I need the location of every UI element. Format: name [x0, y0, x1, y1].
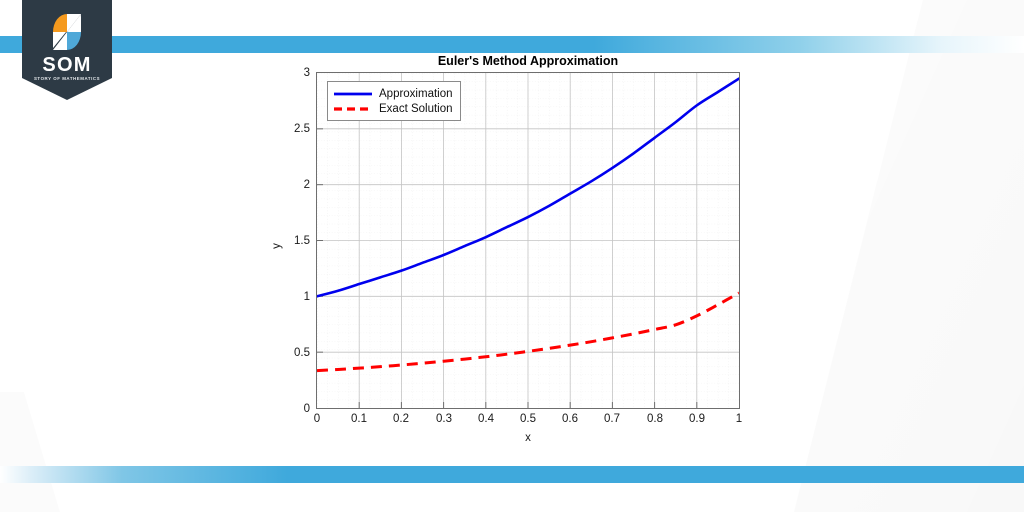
ytick-label-0-5: 0.5 — [270, 347, 310, 359]
background-watermark — [794, 0, 1024, 512]
legend-label-exact-solution: Exact Solution — [379, 103, 453, 115]
legend-swatch-solid-blue — [333, 88, 373, 100]
legend-swatch-dashed-red — [333, 103, 373, 115]
plot-canvas — [317, 73, 739, 408]
chart-title: Euler's Method Approximation — [316, 54, 740, 68]
xtick-label-0-8: 0.8 — [635, 413, 675, 425]
legend-item-approximation: Approximation — [333, 86, 453, 101]
chart-legend[interactable]: Approximation Exact Solution — [327, 81, 461, 121]
xtick-label-1: 1 — [719, 413, 759, 425]
som-logo-tagline: STORY OF MATHEMATICS — [22, 77, 112, 81]
bottom-banner-stripe — [0, 466, 1024, 483]
x-axis-title: x — [316, 432, 740, 444]
xtick-label-0-6: 0.6 — [550, 413, 590, 425]
som-monogram-icon — [47, 12, 87, 52]
ytick-label-2-5: 2.5 — [270, 123, 310, 135]
xtick-label-0-2: 0.2 — [381, 413, 421, 425]
xtick-label-0-9: 0.9 — [677, 413, 717, 425]
background-watermark-corner — [0, 392, 60, 512]
ytick-label-2: 2 — [270, 179, 310, 191]
y-axis-title: y — [271, 243, 283, 249]
plot-area: Approximation Exact Solution — [316, 72, 740, 409]
xtick-label-0-5: 0.5 — [508, 413, 548, 425]
xtick-label-0-1: 0.1 — [339, 413, 379, 425]
som-logo-badge[interactable]: SOM STORY OF MATHEMATICS — [22, 0, 112, 100]
ytick-label-3: 3 — [270, 67, 310, 79]
xtick-label-0-3: 0.3 — [424, 413, 464, 425]
xtick-label-0-7: 0.7 — [592, 413, 632, 425]
xtick-label-0: 0 — [297, 413, 337, 425]
legend-item-exact-solution: Exact Solution — [333, 101, 453, 116]
chart-figure: Euler's Method Approximation — [266, 50, 766, 450]
som-logo-wordmark: SOM — [22, 55, 112, 75]
legend-label-approximation: Approximation — [379, 88, 453, 100]
xtick-label-0-4: 0.4 — [466, 413, 506, 425]
ytick-label-1: 1 — [270, 291, 310, 303]
page-root: SOM STORY OF MATHEMATICS Euler's Method … — [0, 0, 1024, 512]
